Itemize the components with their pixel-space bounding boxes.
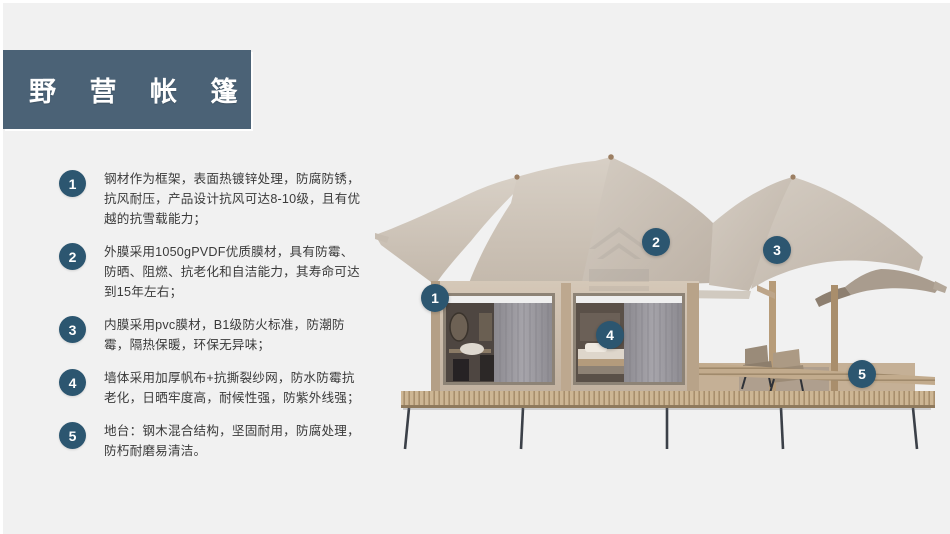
feature-badge-3: 3 xyxy=(59,316,86,343)
feature-badge-2: 2 xyxy=(59,243,86,270)
mirror-oval xyxy=(450,313,468,341)
bath-cabinet xyxy=(480,355,494,381)
feature-list: 1 钢材作为框架，表面热镀锌处理，防腐防锈，抗风耐压，产品设计抗风可达8-10级… xyxy=(59,169,369,474)
deck-legs xyxy=(405,408,917,449)
canopy-right-tail xyxy=(845,269,941,295)
feature-badge-1: 1 xyxy=(59,170,86,197)
sink-basin xyxy=(460,343,484,355)
window-left-header xyxy=(446,296,552,303)
window-center-header xyxy=(576,296,682,303)
list-item: 4 墙体采用加厚帆布+抗撕裂纱网，防水防霉抗老化，日晒牢度高，耐候性强，防紫外线… xyxy=(59,368,369,408)
callout-badge-2: 2 xyxy=(642,228,670,256)
callout-badge-1: 1 xyxy=(421,284,449,312)
peak-tip-center xyxy=(608,154,614,160)
wall-post-mid xyxy=(561,283,571,393)
tent-illustration: 1 2 3 4 5 xyxy=(375,153,950,453)
feature-text-3: 内膜采用pvc膜材，B1级防火标准，防潮防霉，隔热保暖，环保无异味； xyxy=(104,315,366,355)
bathroom-interior xyxy=(446,303,494,382)
bed-base xyxy=(578,366,624,374)
list-item: 2 外膜采用1050gPVDF优质膜材，具有防霉、防晒、阻燃、抗老化和自洁能力，… xyxy=(59,242,369,302)
feature-text-2: 外膜采用1050gPVDF优质膜材，具有防霉、防晒、阻燃、抗老化和自洁能力，其寿… xyxy=(104,242,366,302)
feature-text-1: 钢材作为框架，表面热镀锌处理，防腐防锈，抗风耐压，产品设计抗风可达8-10级，且… xyxy=(104,169,366,229)
feature-badge-4: 4 xyxy=(59,369,86,396)
list-item: 3 内膜采用pvc膜材，B1级防火标准，防潮防霉，隔热保暖，环保无异味； xyxy=(59,315,369,355)
curtain-left xyxy=(494,303,552,382)
feature-text-4: 墙体采用加厚帆布+抗撕裂纱网，防水防霉抗老化，日晒牢度高，耐候性强，防紫外线强； xyxy=(104,368,366,408)
bed-throw xyxy=(578,359,624,366)
callout-badge-5: 5 xyxy=(848,360,876,388)
feature-badge-5: 5 xyxy=(59,422,86,449)
callout-badge-3: 3 xyxy=(763,236,791,264)
deck-edge-shadow xyxy=(401,405,935,408)
list-item: 1 钢材作为框架，表面热镀锌处理，防腐防锈，抗风耐压，产品设计抗风可达8-10级… xyxy=(59,169,369,229)
title-banner: 野 营 帐 篷 xyxy=(3,50,251,129)
shelf-unit xyxy=(479,313,492,341)
peak-tip-left xyxy=(514,174,519,179)
curtain-center xyxy=(624,303,682,382)
callout-badge-4: 4 xyxy=(596,321,624,349)
waste-bin xyxy=(453,359,469,381)
slide-root: 野 营 帐 篷 1 钢材作为框架，表面热镀锌处理，防腐防锈，抗风耐压，产品设计抗… xyxy=(0,0,950,534)
wall-post-right xyxy=(687,283,699,393)
feature-text-5: 地台：钢木混合结构，坚固耐用，防腐处理，防朽耐磨易清洁。 xyxy=(104,421,366,461)
page-title: 野 营 帐 篷 xyxy=(29,70,251,109)
peak-tip-right xyxy=(790,174,795,179)
list-item: 5 地台：钢木混合结构，坚固耐用，防腐处理，防朽耐磨易清洁。 xyxy=(59,421,369,461)
deck-edge-slats xyxy=(401,391,935,407)
